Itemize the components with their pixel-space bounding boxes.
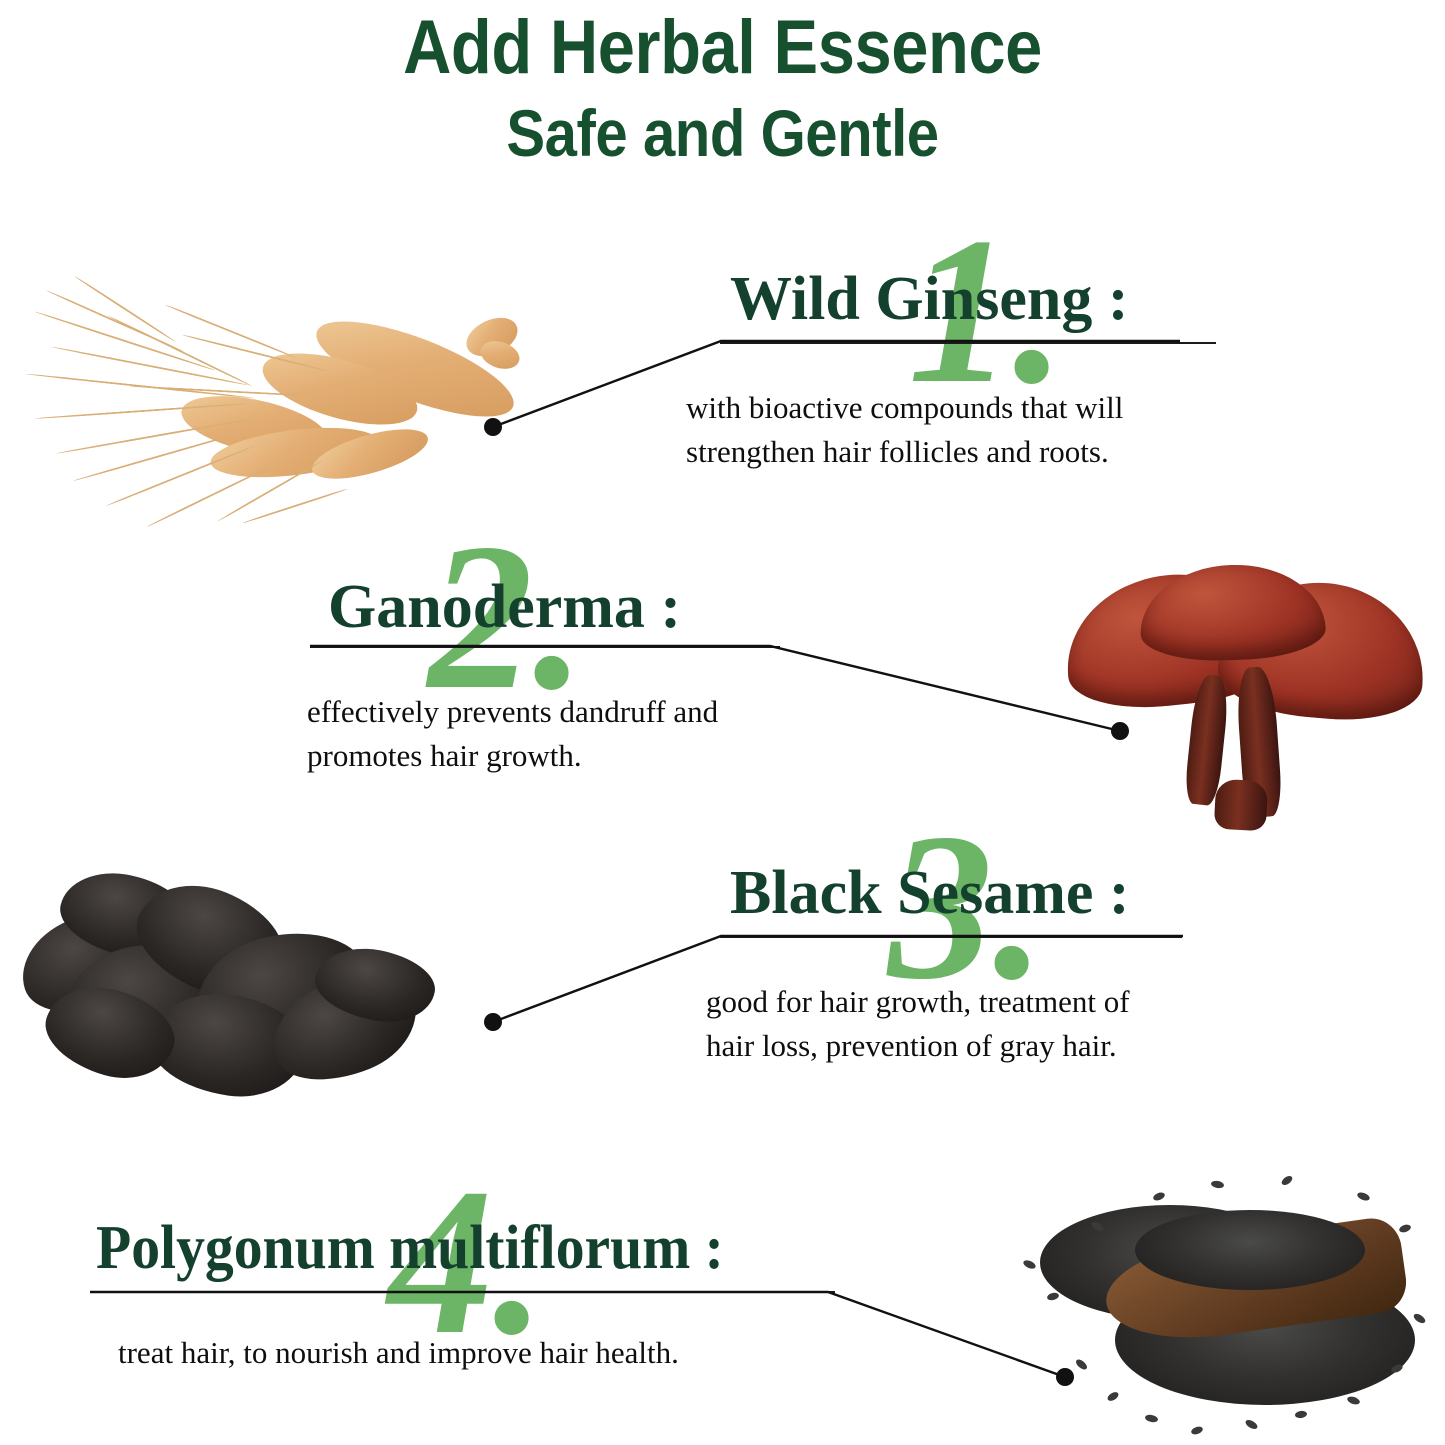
leader-line-1	[480, 325, 1220, 445]
ingredient-block-1: 1. Wild Ginseng : with bioactive compoun…	[686, 236, 1085, 298]
title-line-2: Safe and Gentle	[87, 100, 1359, 166]
ingredient-block-4: 4. Polygonum multiflorum : treat hair, t…	[90, 1185, 765, 1247]
ginseng-root-photo	[10, 290, 520, 530]
ingredient-heading-2: Ganoderma :	[328, 576, 681, 638]
leader-line-3	[480, 920, 1200, 1040]
leader-line-2	[300, 630, 1145, 755]
ingredient-heading-1: Wild Ginseng :	[730, 268, 1129, 330]
herbal-essence-infographic: Add Herbal Essence Safe and Gentle	[0, 0, 1445, 1445]
ingredient-heading-4: Polygonum multiflorum :	[96, 1217, 724, 1279]
ingredient-heading-3: Black Sesame :	[730, 862, 1130, 924]
dried-slices-photo	[5, 855, 465, 1105]
title-line-1: Add Herbal Essence	[87, 10, 1359, 86]
ingredient-block-3: 3. Black Sesame : good for hair growth, …	[686, 830, 1086, 892]
ingredient-block-2: 2. Ganoderma : effectively prevents dand…	[300, 540, 653, 602]
leader-line-4	[80, 1280, 1080, 1395]
page-title: Add Herbal Essence Safe and Gentle	[0, 10, 1445, 166]
